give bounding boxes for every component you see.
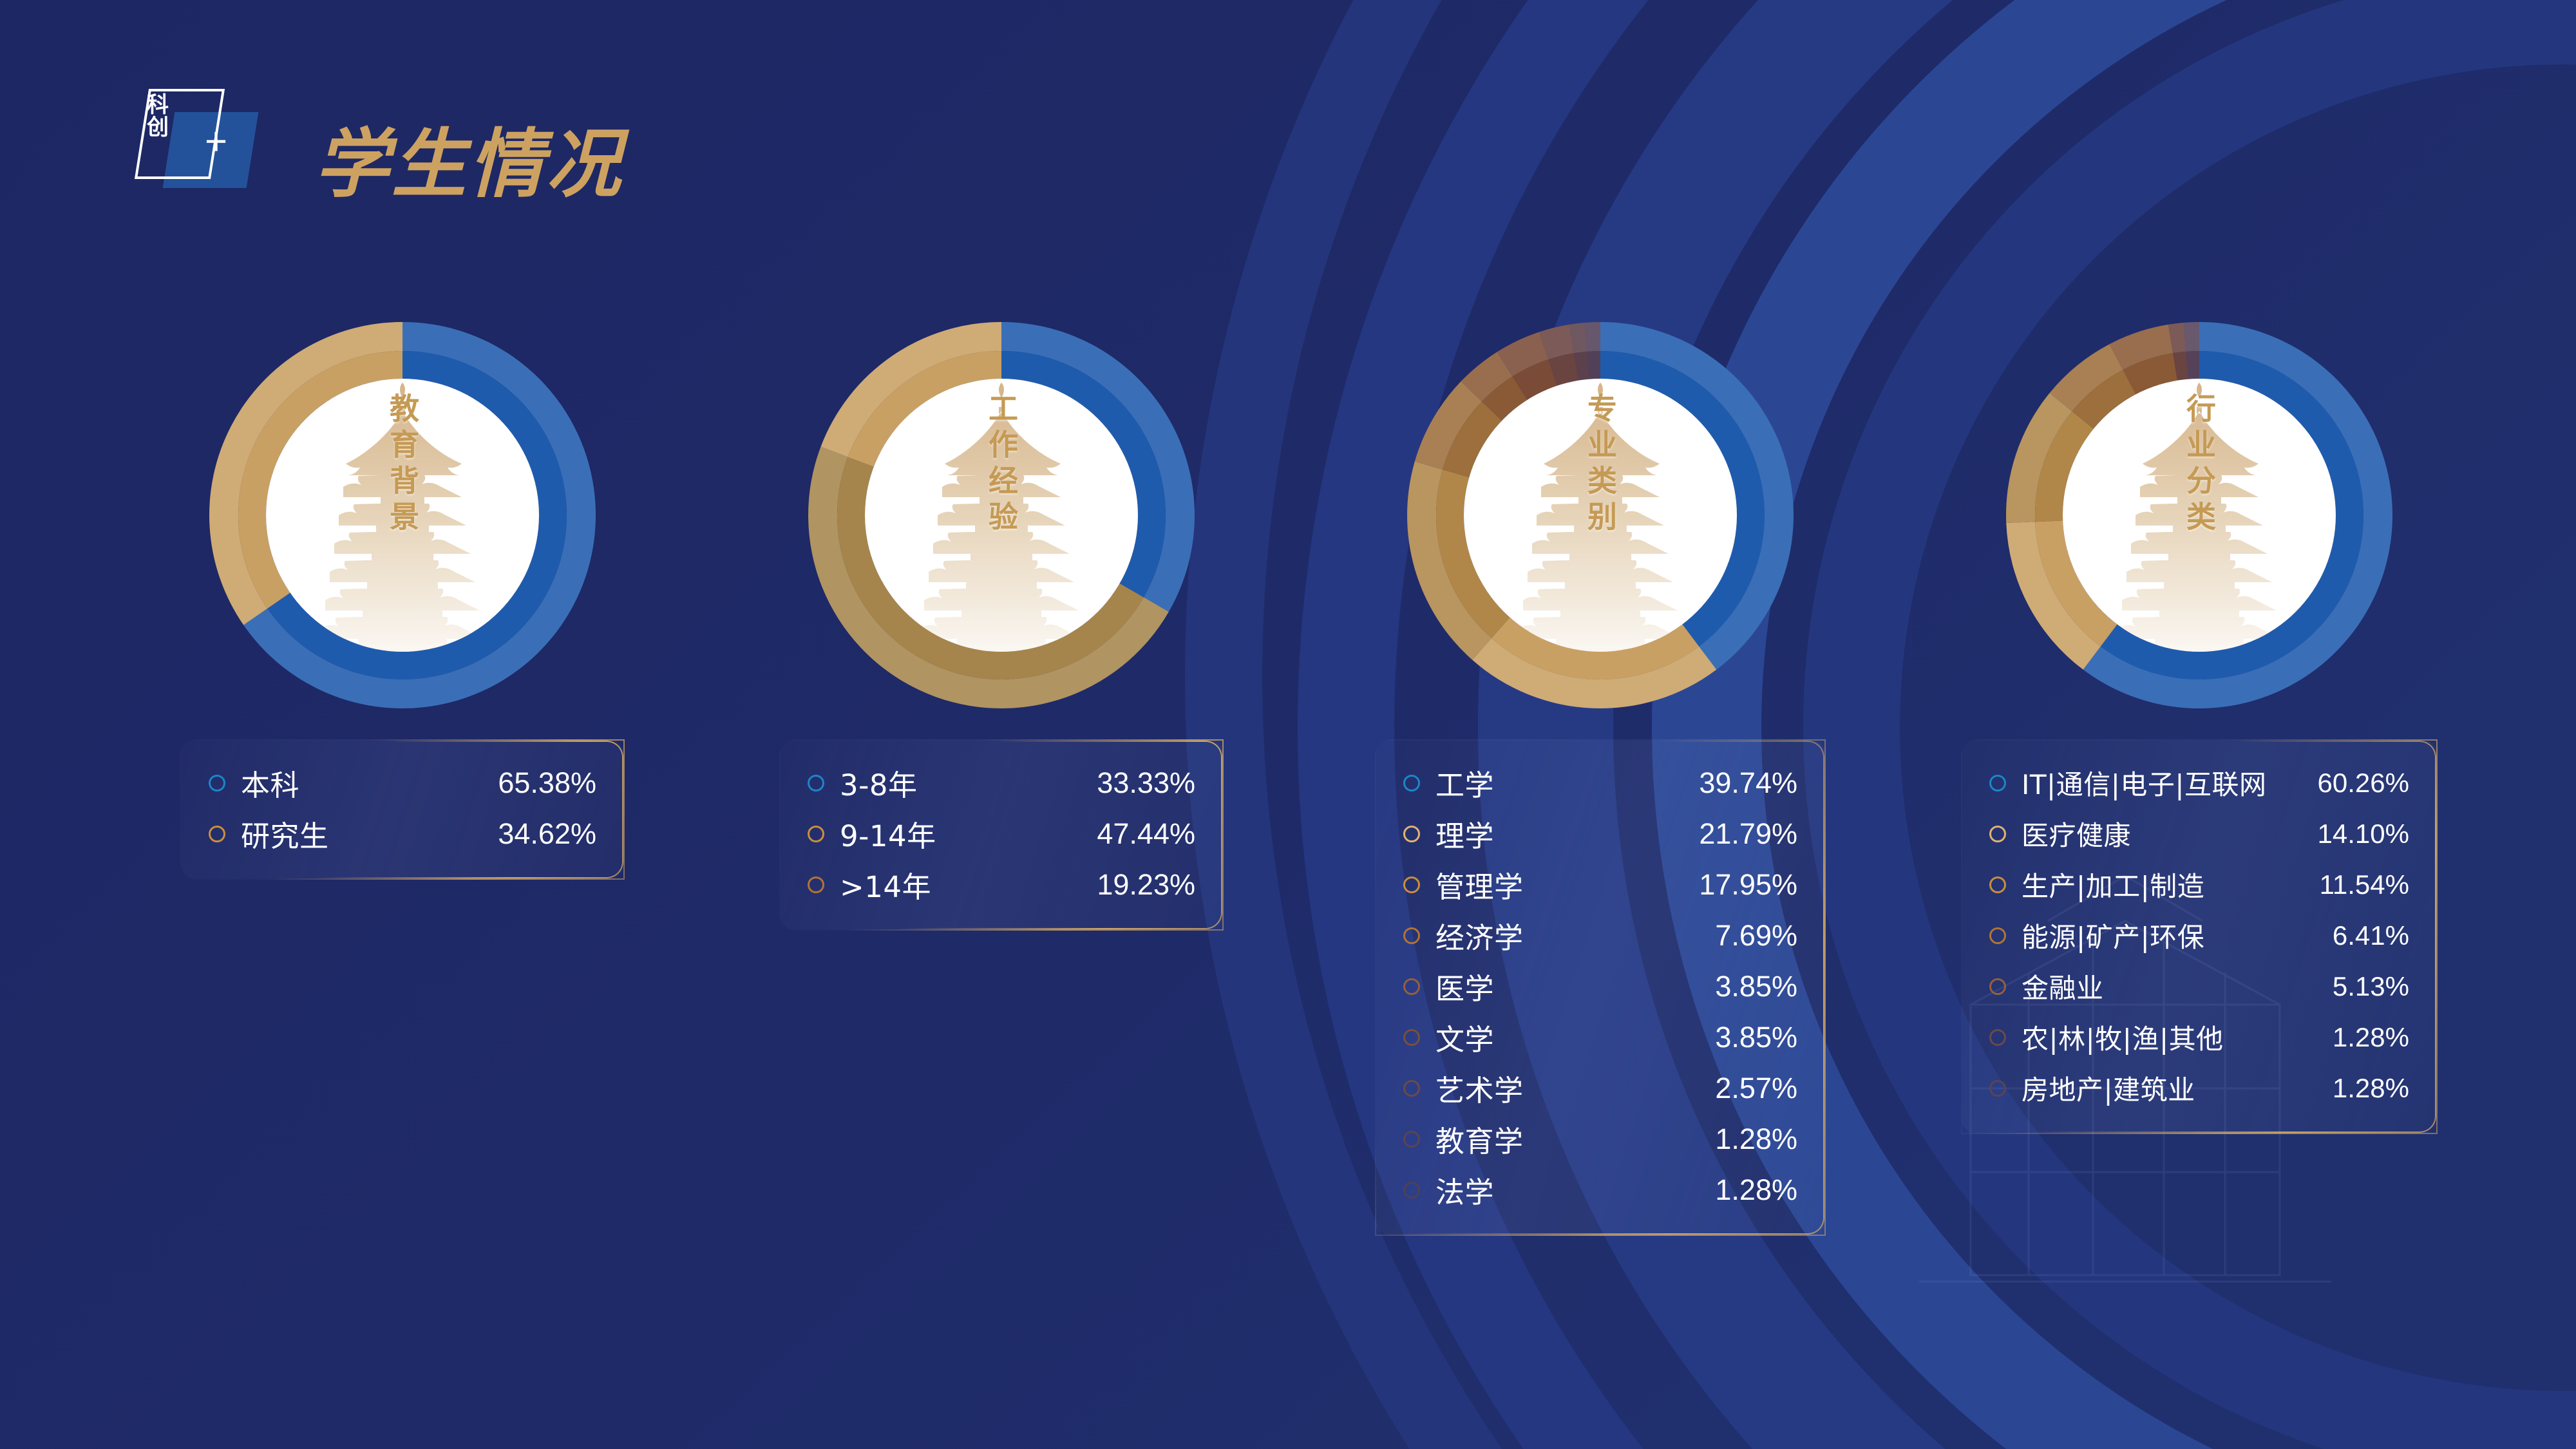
legend-row[interactable]: 艺术学2.57%: [1403, 1063, 1797, 1113]
legend-label: 经济学: [1435, 914, 1715, 956]
donut-chart-major-category: 专业类别: [1394, 303, 1806, 728]
legend-value: 39.74%: [1699, 766, 1797, 800]
legend-row[interactable]: 金融业5.13%: [1989, 961, 2409, 1012]
legend-row[interactable]: 9-14年47.44%: [808, 808, 1195, 859]
legend-value: 6.41%: [2333, 920, 2409, 951]
legend-value: 19.23%: [1097, 868, 1195, 902]
legend-label: 生产|加工|制造: [2022, 865, 2320, 904]
donut-svg-1: [795, 303, 1207, 728]
chart-column-education-background: 教育背景 本科65.38%研究生34.62%: [103, 303, 702, 880]
legend-marker-icon: [1403, 1182, 1420, 1198]
legend-marker-icon: [209, 775, 225, 791]
donut-chart-education-background: 教育背景: [196, 303, 609, 728]
legend-card-work-experience: 3-8年33.33%9-14年47.44%>14年19.23%: [779, 739, 1224, 931]
legend-label: 农|林|牧|渔|其他: [2022, 1018, 2333, 1057]
legend-label: IT|通信|电子|互联网: [2022, 763, 2318, 802]
page-title: 学生情况: [314, 128, 623, 202]
legend-label: 医疗健康: [2022, 814, 2318, 853]
legend-row[interactable]: 经济学7.69%: [1403, 910, 1797, 961]
legend-value: 3.85%: [1715, 1021, 1797, 1054]
legend-row[interactable]: 农|林|牧|渔|其他1.28%: [1989, 1012, 2409, 1063]
legend-label: 工学: [1435, 762, 1699, 804]
chart-column-work-experience: 工作经验 3-8年33.33%9-14年47.44%>14年19.23%: [702, 303, 1301, 931]
legend-row[interactable]: 理学21.79%: [1403, 808, 1797, 859]
legend-label: 能源|矿产|环保: [2022, 916, 2333, 955]
legend-value: 1.28%: [2333, 1022, 2409, 1053]
legend-marker-icon: [808, 826, 824, 842]
legend-row[interactable]: 教育学1.28%: [1403, 1113, 1797, 1164]
legend-value: 3.85%: [1715, 970, 1797, 1003]
legend-label: 研究生: [241, 813, 498, 855]
donut-chart-work-experience: 工作经验: [795, 303, 1207, 728]
logo-badge: 科 创 +: [129, 89, 241, 189]
logo-badge-line1: 科: [147, 94, 218, 117]
legend-row[interactable]: 工学39.74%: [1403, 757, 1797, 808]
legend-row[interactable]: 能源|矿产|环保6.41%: [1989, 910, 2409, 961]
legend-marker-icon: [1989, 826, 2006, 842]
legend-label: 本科: [241, 762, 498, 804]
legend-value: 2.57%: [1715, 1072, 1797, 1105]
legend-marker-icon: [1403, 978, 1420, 995]
legend-marker-icon: [808, 876, 824, 893]
donut-svg-0: [196, 303, 609, 728]
legend-card-industry-classification: IT|通信|电子|互联网60.26%医疗健康14.10%生产|加工|制造11.5…: [1961, 739, 2438, 1134]
legend-marker-icon: [1403, 826, 1420, 842]
legend-label: 9-14年: [840, 813, 1097, 855]
legend-label: 理学: [1435, 813, 1699, 855]
legend-value: 1.28%: [2333, 1073, 2409, 1104]
legend-label: 房地产|建筑业: [2022, 1068, 2333, 1108]
legend-row[interactable]: 生产|加工|制造11.54%: [1989, 859, 2409, 910]
legend-marker-icon: [1403, 1131, 1420, 1148]
legend-value: 14.10%: [2318, 819, 2409, 849]
legend-row[interactable]: 研究生34.62%: [209, 808, 596, 859]
legend-marker-icon: [1989, 775, 2006, 791]
legend-marker-icon: [1403, 775, 1420, 791]
slide-canvas: 科 创 + 学生情况 教育背景 本科65.38%研究生34.62%: [0, 0, 2576, 1449]
legend-marker-icon: [1403, 927, 1420, 944]
legend-label: 金融业: [2022, 967, 2333, 1006]
legend-marker-icon: [209, 826, 225, 842]
legend-marker-icon: [1989, 927, 2006, 944]
legend-row[interactable]: 房地产|建筑业1.28%: [1989, 1063, 2409, 1113]
legend-value: 11.54%: [2320, 869, 2409, 900]
legend-marker-icon: [1989, 978, 2006, 995]
legend-marker-icon: [1403, 1029, 1420, 1046]
legend-row[interactable]: 法学1.28%: [1403, 1164, 1797, 1215]
legend-row[interactable]: 文学3.85%: [1403, 1012, 1797, 1063]
legend-value: 17.95%: [1699, 868, 1797, 902]
donut-inner-segment: [1587, 351, 1600, 379]
legend-row[interactable]: 3-8年33.33%: [808, 757, 1195, 808]
donut-svg-3: [1993, 303, 2405, 728]
legend-value: 7.69%: [1715, 919, 1797, 952]
legend-value: 60.26%: [2318, 768, 2409, 799]
chart-column-major-category: 专业类别 工学39.74%理学21.79%管理学17.95%经济学7.69%医学…: [1301, 303, 1900, 1236]
plus-icon: +: [205, 122, 227, 161]
legend-card-education-background: 本科65.38%研究生34.62%: [180, 739, 625, 880]
legend-label: 管理学: [1435, 864, 1699, 905]
legend-value: 21.79%: [1699, 817, 1797, 851]
donut-outer-segment: [1585, 322, 1600, 352]
legend-marker-icon: [1989, 876, 2006, 893]
legend-marker-icon: [1403, 876, 1420, 893]
donut-inner-segment: [2186, 351, 2199, 379]
legend-value: 47.44%: [1097, 817, 1195, 851]
legend-label: 艺术学: [1435, 1067, 1715, 1109]
legend-label: 3-8年: [840, 762, 1097, 804]
legend-row[interactable]: >14年19.23%: [808, 859, 1195, 910]
legend-value: 1.28%: [1715, 1122, 1797, 1156]
legend-label: 法学: [1435, 1169, 1715, 1211]
legend-row[interactable]: 医学3.85%: [1403, 961, 1797, 1012]
legend-row[interactable]: 医疗健康14.10%: [1989, 808, 2409, 859]
donut-chart-industry-classification: 行业分类: [1993, 303, 2405, 728]
legend-row[interactable]: IT|通信|电子|互联网60.26%: [1989, 757, 2409, 808]
legend-value: 34.62%: [498, 817, 596, 851]
legend-marker-icon: [808, 775, 824, 791]
legend-value: 5.13%: [2333, 971, 2409, 1002]
legend-label: 教育学: [1435, 1118, 1715, 1160]
legend-label: 医学: [1435, 965, 1715, 1007]
legend-card-major-category: 工学39.74%理学21.79%管理学17.95%经济学7.69%医学3.85%…: [1375, 739, 1826, 1236]
legend-row[interactable]: 管理学17.95%: [1403, 859, 1797, 910]
donut-svg-2: [1394, 303, 1806, 728]
legend-value: 33.33%: [1097, 766, 1195, 800]
legend-label: >14年: [840, 864, 1097, 905]
legend-label: 文学: [1435, 1016, 1715, 1058]
donut-outer-segment: [2184, 322, 2199, 352]
chart-column-industry-classification: 行业分类 IT|通信|电子|互联网60.26%医疗健康14.10%生产|加工|制…: [1900, 303, 2499, 1134]
legend-marker-icon: [1403, 1080, 1420, 1097]
legend-marker-icon: [1989, 1029, 2006, 1046]
legend-marker-icon: [1989, 1080, 2006, 1097]
legend-value: 65.38%: [498, 766, 596, 800]
legend-row[interactable]: 本科65.38%: [209, 757, 596, 808]
legend-value: 1.28%: [1715, 1173, 1797, 1207]
